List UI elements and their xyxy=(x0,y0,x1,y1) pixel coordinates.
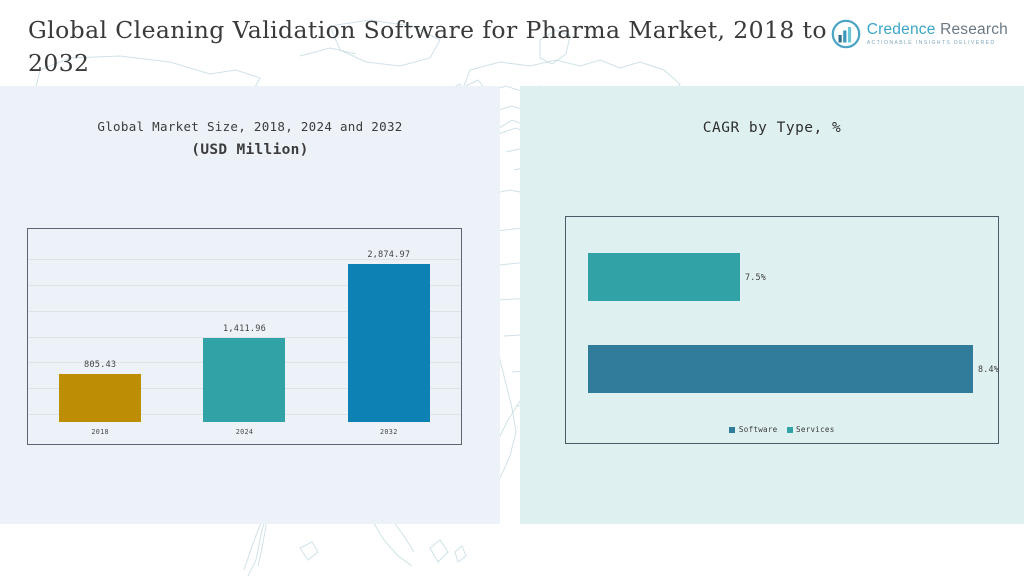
logo-title: Credence Research xyxy=(867,22,1008,38)
bar-2018[interactable] xyxy=(59,374,141,422)
horizontal-bar-group: 7.5% 8.4% xyxy=(566,217,998,402)
bar-column-2024[interactable]: 1,411.96 xyxy=(172,250,316,422)
left-chart-subtitle: (USD Million) xyxy=(0,142,500,158)
right-panel: CAGR by Type, % 7.5% 8.4% Software xyxy=(520,86,1024,524)
bar-column-2018[interactable]: 805.43 xyxy=(28,250,172,422)
logo-word-credence: Credence xyxy=(867,21,936,38)
bar-value-label-services: 7.5% xyxy=(745,272,766,282)
bar-chart-circle-icon xyxy=(831,19,861,49)
bar-2032[interactable] xyxy=(348,264,430,422)
legend-swatch-software xyxy=(729,427,735,433)
logo-word-research: Research xyxy=(940,21,1008,38)
legend-swatch-services xyxy=(787,427,793,433)
legend-label-services: Services xyxy=(796,425,835,434)
logo-tagline: Actionable Insights Delivered xyxy=(867,41,1008,46)
left-chart-title: Global Market Size, 2018, 2024 and 2032 xyxy=(0,119,500,134)
x-tick-2024: 2024 xyxy=(172,428,316,436)
bar-row-services[interactable]: 7.5% xyxy=(588,253,766,301)
bar-value-label: 805.43 xyxy=(84,360,116,370)
x-tick-2018: 2018 xyxy=(28,428,172,436)
bar-services[interactable] xyxy=(588,253,740,301)
legend-label-software: Software xyxy=(739,425,778,434)
global-market-size-chart: 805.43 1,411.96 2,874.97 2018 2024 2032 xyxy=(27,228,462,445)
left-panel: Global Market Size, 2018, 2024 and 2032 … xyxy=(0,86,500,524)
header: Global Cleaning Validation Software for … xyxy=(0,0,1024,86)
bar-value-label: 1,411.96 xyxy=(223,324,266,334)
right-chart-title: CAGR by Type, % xyxy=(520,120,1024,136)
credence-research-logo: Credence Research Actionable Insights De… xyxy=(831,16,1008,52)
legend-item-software[interactable]: Software xyxy=(729,425,777,434)
x-axis-labels: 2018 2024 2032 xyxy=(28,425,461,439)
bar-2024[interactable] xyxy=(203,338,285,422)
page-title: Global Cleaning Validation Software for … xyxy=(28,14,848,80)
legend-item-services[interactable]: Services xyxy=(787,425,835,434)
bar-group: 805.43 1,411.96 2,874.97 xyxy=(28,250,461,422)
chart-legend: Software Services xyxy=(566,425,998,434)
bar-column-2032[interactable]: 2,874.97 xyxy=(317,250,461,422)
bar-software[interactable] xyxy=(588,345,973,393)
x-tick-2032: 2032 xyxy=(317,428,461,436)
bar-value-label: 2,874.97 xyxy=(367,250,410,260)
logo-text: Credence Research Actionable Insights De… xyxy=(867,22,1008,46)
bar-row-software[interactable]: 8.4% xyxy=(588,345,999,393)
infographic-canvas: Global Cleaning Validation Software for … xyxy=(0,0,1024,576)
cagr-by-type-chart: 7.5% 8.4% Software Services xyxy=(565,216,999,444)
bar-value-label-software: 8.4% xyxy=(978,364,999,374)
